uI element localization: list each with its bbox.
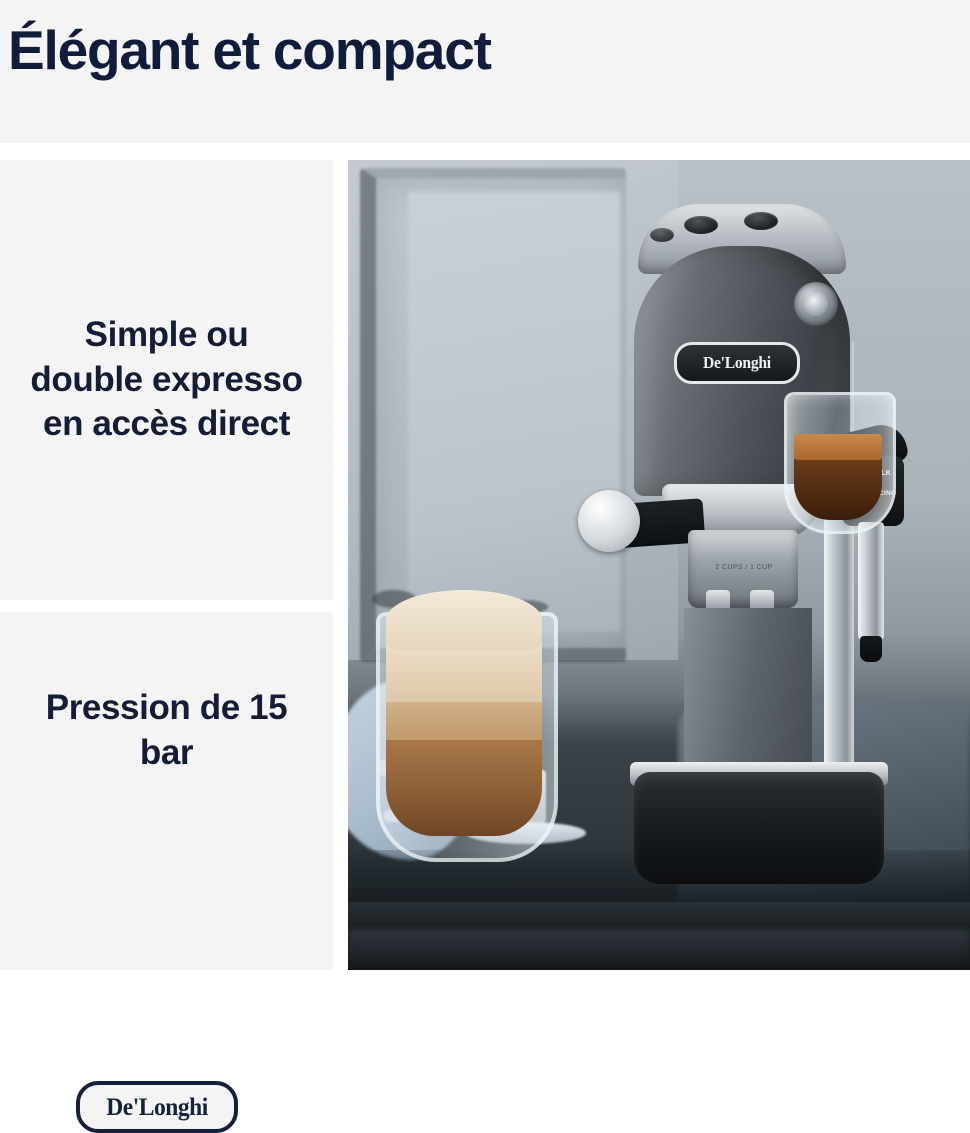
header-banner: Élégant et compact (0, 0, 970, 143)
portafilter-handle-knob (578, 490, 640, 552)
page-title: Élégant et compact (8, 22, 491, 80)
feature-column: Simple ou double expresso en accès direc… (0, 160, 333, 970)
steam-wand-tip (860, 636, 882, 662)
feature-card-double-espresso: Simple ou double expresso en accès direc… (0, 160, 333, 600)
feature-text-double-espresso: Simple ou double expresso en accès direc… (0, 313, 333, 447)
feature-text-pressure: Pression de 15 bar (0, 686, 333, 776)
latte-middle-layer (386, 700, 542, 740)
latte-coffee-layer (386, 738, 542, 836)
machine-brand-badge-text: De'Longhi (703, 353, 771, 373)
machine-brand-badge: De'Longhi (674, 342, 800, 384)
machine-group-label: 2 CUPS / 1 CUP (708, 564, 780, 578)
delonghi-logo: De'Longhi (76, 1081, 238, 1133)
espresso-crema (794, 434, 882, 460)
latte-foam-cap (386, 590, 542, 650)
feature-card-pressure: Pression de 15 bar (0, 612, 333, 970)
steam-wand-tube (858, 522, 884, 640)
espresso-glass (784, 392, 896, 534)
machine-base (634, 772, 884, 884)
espresso-machine: De'Longhi 2 CUPS / 1 CUP HOT MILK CAPPUC… (576, 160, 916, 970)
latte-macchiato-glass (376, 612, 558, 862)
delonghi-logo-text: De'Longhi (106, 1095, 208, 1120)
product-feature-page: Élégant et compact Simple ou double expr… (0, 0, 970, 970)
machine-button-single-shot (684, 216, 718, 234)
product-photo: De'Longhi 2 CUPS / 1 CUP HOT MILK CAPPUC… (348, 160, 970, 970)
machine-dial-inner (804, 292, 828, 316)
machine-button-double-shot (744, 212, 778, 230)
machine-button-steam (650, 228, 674, 242)
machine-dial (794, 282, 838, 326)
espresso-coffee-liquid (794, 458, 882, 520)
